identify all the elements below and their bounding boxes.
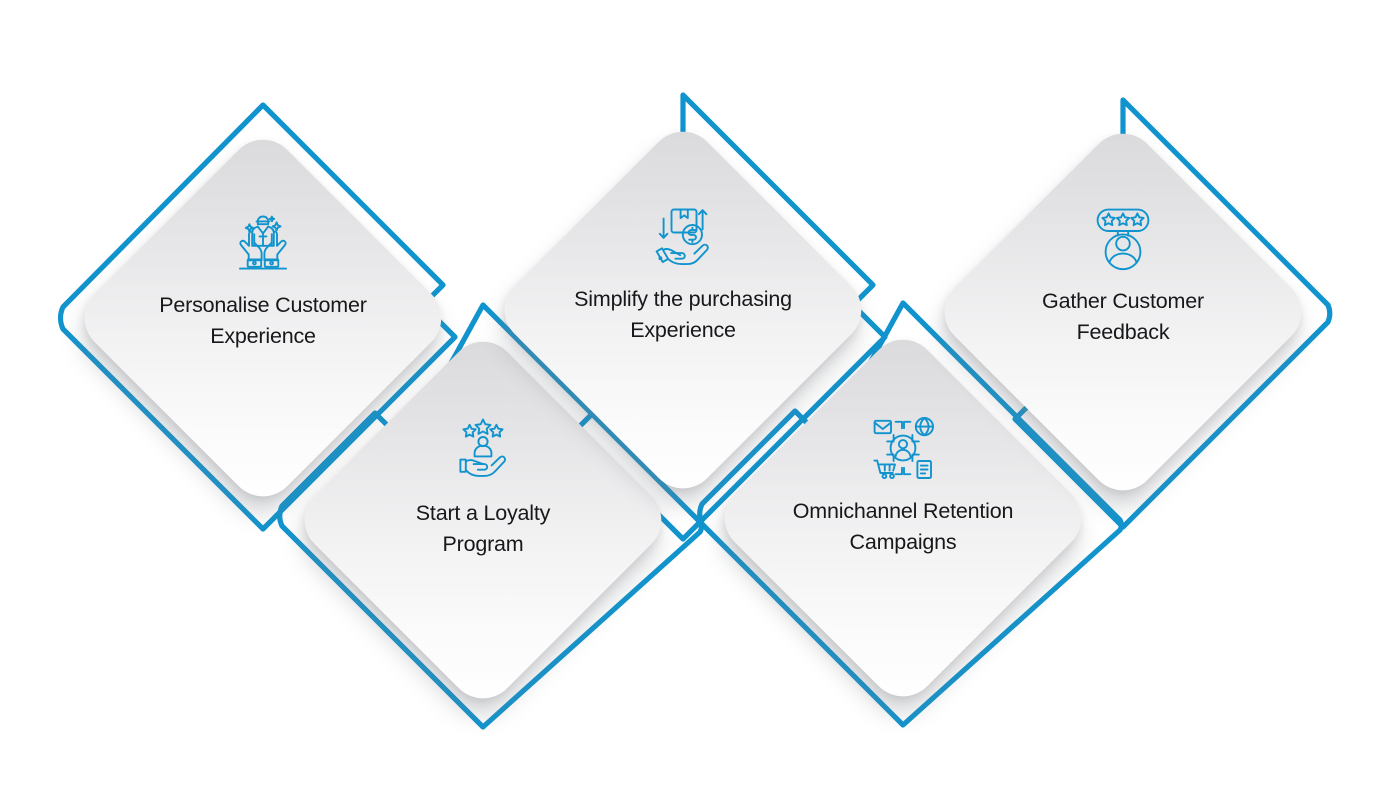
infographic-canvas: Personalise Customer Experience: [0, 0, 1390, 806]
